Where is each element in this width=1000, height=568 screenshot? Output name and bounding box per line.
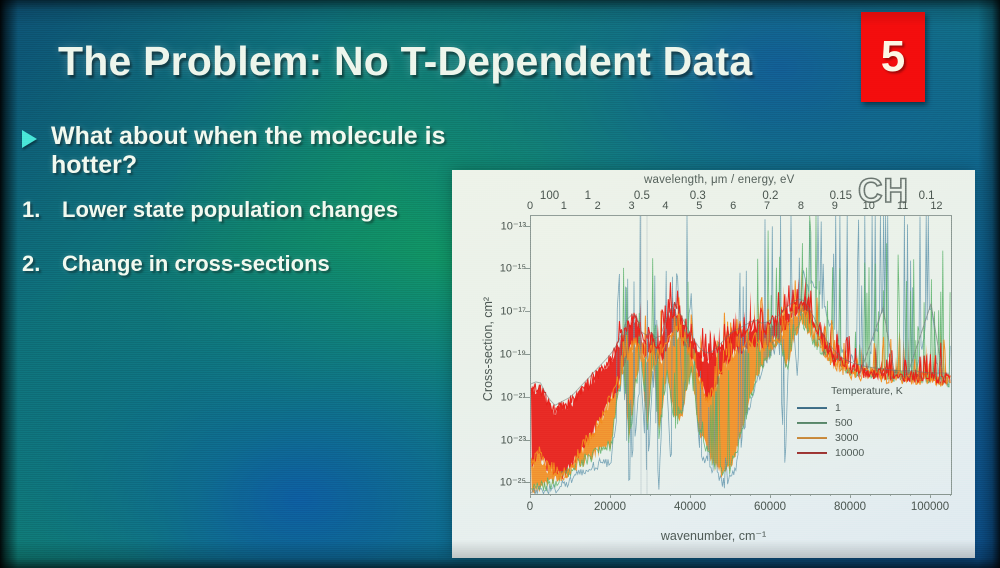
- list-item-number: 2.: [22, 250, 48, 278]
- legend-item: 500: [797, 417, 929, 429]
- list-item: 2. Change in cross-sections: [22, 250, 442, 278]
- x-axis-tick: 20000: [594, 501, 626, 513]
- top-energy-tick: 1: [561, 200, 567, 212]
- list-item-label: Lower state population changes: [62, 196, 442, 224]
- legend-label: 3000: [835, 432, 858, 444]
- top-wavelength-tick: 100: [540, 190, 559, 202]
- page-title: The Problem: No T-Dependent Data: [58, 38, 848, 85]
- x-axis-tick: 60000: [754, 501, 786, 513]
- legend: Temperature, K 1500300010000: [797, 385, 929, 462]
- legend-line-swatch: [797, 452, 827, 454]
- list-item-label: Change in cross-sections: [62, 250, 442, 278]
- legend-item: 10000: [797, 447, 929, 459]
- top-energy-tick: 7: [764, 200, 770, 212]
- legend-label: 500: [835, 417, 853, 429]
- y-axis-tick: 10⁻²³: [474, 433, 526, 446]
- top-energy-tick: 10: [863, 200, 875, 212]
- y-axis-tick: 10⁻¹³: [474, 219, 526, 232]
- top-energy-tick: 0: [527, 200, 533, 212]
- top-energy-tick: 5: [696, 200, 702, 212]
- legend-title: Temperature, K: [797, 385, 929, 397]
- list-item-number: 1.: [22, 196, 48, 224]
- x-axis-title: wavenumber, cm⁻¹: [452, 528, 975, 543]
- top-energy-tick: 9: [832, 200, 838, 212]
- x-axis-tick: 100000: [911, 501, 949, 513]
- y-axis-title: Cross-section, cm²: [481, 269, 495, 429]
- y-axis-tick: 10⁻²⁵: [474, 476, 526, 489]
- top-axis-title: wavelength, μm / energy, eV: [644, 174, 795, 186]
- lead-bullet: What about when the molecule is hotter?: [22, 122, 452, 180]
- top-energy-tick: 2: [595, 200, 601, 212]
- legend-line-swatch: [797, 407, 827, 409]
- top-energy-tick: 4: [662, 200, 668, 212]
- page-number-badge: 5: [861, 12, 925, 102]
- legend-line-swatch: [797, 422, 827, 424]
- legend-item: 1: [797, 402, 929, 414]
- top-wavelength-tick: 0.5: [634, 190, 650, 202]
- lead-bullet-label: What about when the molecule is hotter?: [51, 122, 452, 180]
- legend-line-swatch: [797, 437, 827, 439]
- top-energy-tick: 11: [897, 200, 908, 212]
- triangle-bullet-icon: [22, 130, 37, 148]
- legend-label: 1: [835, 402, 841, 414]
- legend-label: 10000: [835, 447, 864, 459]
- top-energy-tick: 6: [730, 200, 736, 212]
- figure-inner: wavelength, μm / energy, eV CH 10010.50.…: [452, 170, 975, 558]
- list-item: 1. Lower state population changes: [22, 196, 442, 224]
- x-axis-tick: 40000: [674, 501, 706, 513]
- slide-canvas: The Problem: No T-Dependent Data 5 What …: [0, 0, 1000, 568]
- x-axis-tick: 80000: [834, 501, 866, 513]
- legend-item: 3000: [797, 432, 929, 444]
- x-axis-tick: 0: [527, 501, 533, 513]
- top-wavelength-tick: 1: [585, 190, 591, 202]
- figure-panel: wavelength, μm / energy, eV CH 10010.50.…: [452, 170, 975, 558]
- top-energy-tick: 12: [930, 200, 942, 212]
- numbered-list: 1. Lower state population changes 2. Cha…: [22, 196, 442, 304]
- page-number-value: 5: [881, 32, 905, 82]
- top-energy-tick: 3: [629, 200, 635, 212]
- legend-rows: 1500300010000: [797, 402, 929, 459]
- top-energy-tick: 8: [798, 200, 804, 212]
